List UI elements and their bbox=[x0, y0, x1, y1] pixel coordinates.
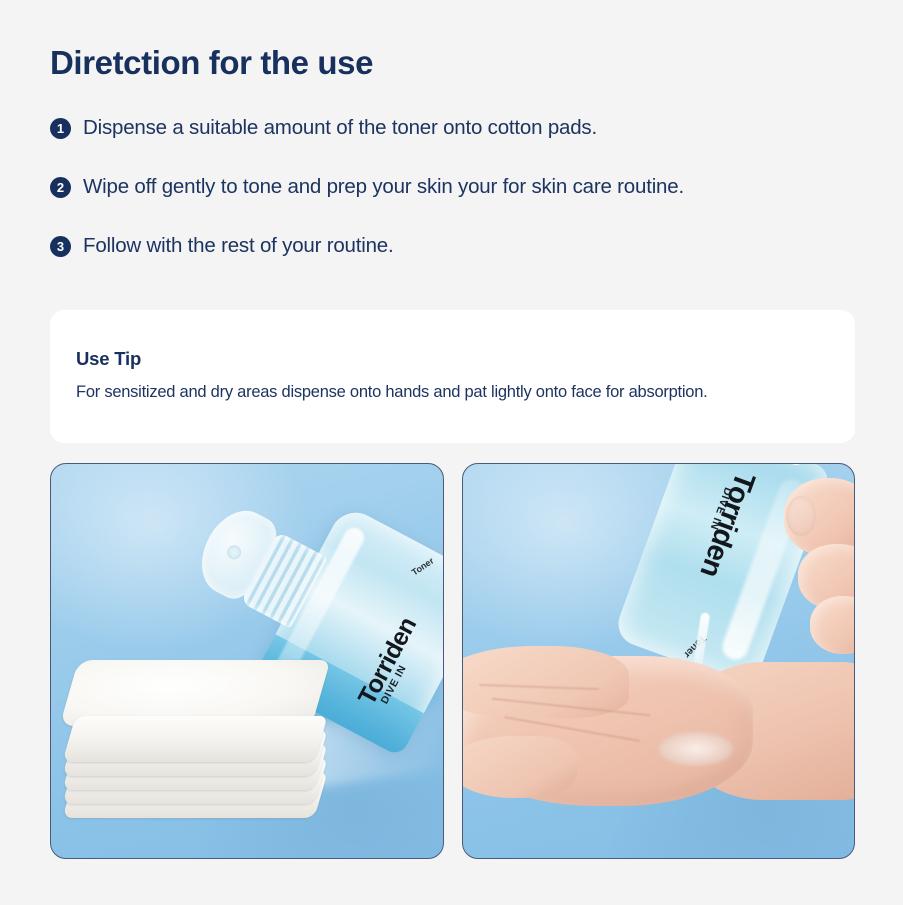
product-photo-hand-dispense: Torriden Toner DIVE IN bbox=[462, 463, 856, 859]
gripping-fingers bbox=[748, 484, 855, 654]
toner-puddle bbox=[659, 732, 733, 766]
list-item: 1 Dispense a suitable amount of the tone… bbox=[50, 113, 870, 172]
step-number-badge: 2 bbox=[50, 177, 71, 198]
fingernail bbox=[786, 496, 816, 536]
brand-name: Torriden bbox=[666, 467, 761, 653]
step-text: Dispense a suitable amount of the toner … bbox=[83, 113, 597, 143]
list-item: 3 Follow with the rest of your routine. bbox=[50, 231, 870, 290]
list-item: 2 Wipe off gently to tone and prep your … bbox=[50, 172, 870, 231]
use-tip-body: For sensitized and dry areas dispense on… bbox=[76, 383, 829, 402]
use-tip-title: Use Tip bbox=[76, 348, 829, 370]
use-tip-card: Use Tip For sensitized and dry areas dis… bbox=[50, 310, 855, 443]
step-number-badge: 3 bbox=[50, 236, 71, 257]
open-palm bbox=[462, 632, 856, 859]
product-photo-gallery: Torriden Toner DIVE IN bbox=[50, 463, 855, 857]
fingers bbox=[462, 646, 629, 718]
cotton-pad bbox=[62, 716, 327, 762]
product-photo-cotton-pads: Torriden Toner DIVE IN bbox=[50, 463, 444, 859]
step-number-badge: 1 bbox=[50, 118, 71, 139]
steps-list: 1 Dispense a suitable amount of the tone… bbox=[50, 113, 870, 290]
direction-for-use-section: Diretction for the use 1 Dispense a suit… bbox=[0, 0, 903, 905]
step-text: Wipe off gently to tone and prep your sk… bbox=[83, 172, 684, 202]
step-text: Follow with the rest of your routine. bbox=[83, 231, 394, 261]
cotton-pad-stack bbox=[69, 660, 325, 818]
page-title: Diretction for the use bbox=[50, 44, 373, 82]
thumb bbox=[462, 736, 577, 798]
